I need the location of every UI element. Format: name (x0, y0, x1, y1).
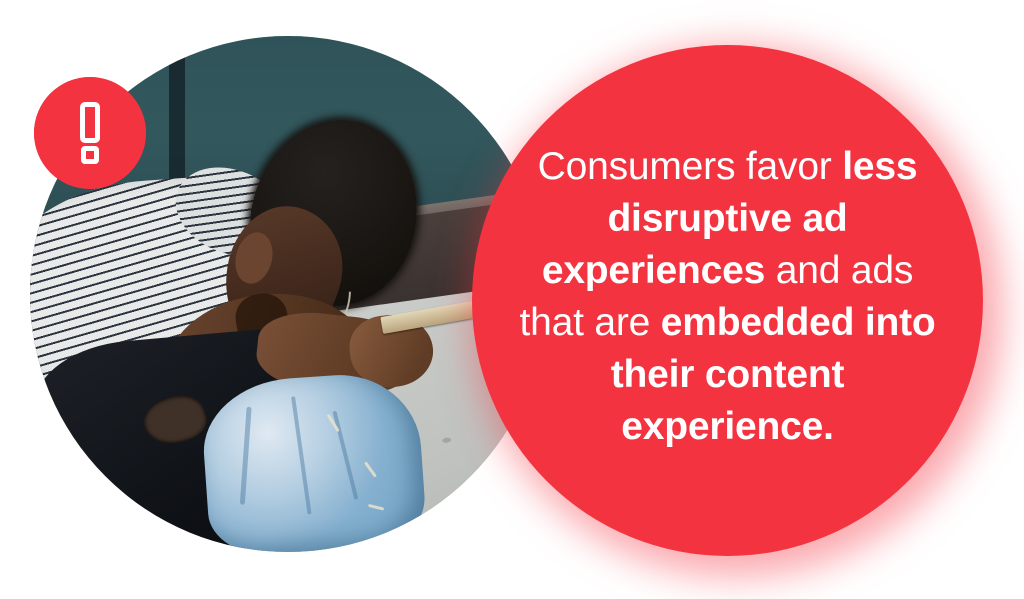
infographic-canvas: Consumers favor less disruptive ad exper… (0, 0, 1024, 599)
message-circle: Consumers favor less disruptive ad exper… (472, 45, 983, 556)
denim-jacket (200, 369, 428, 552)
message-text: Consumers favor less disruptive ad exper… (513, 141, 943, 453)
exclamation-icon (34, 77, 146, 189)
alert-badge (34, 77, 146, 189)
